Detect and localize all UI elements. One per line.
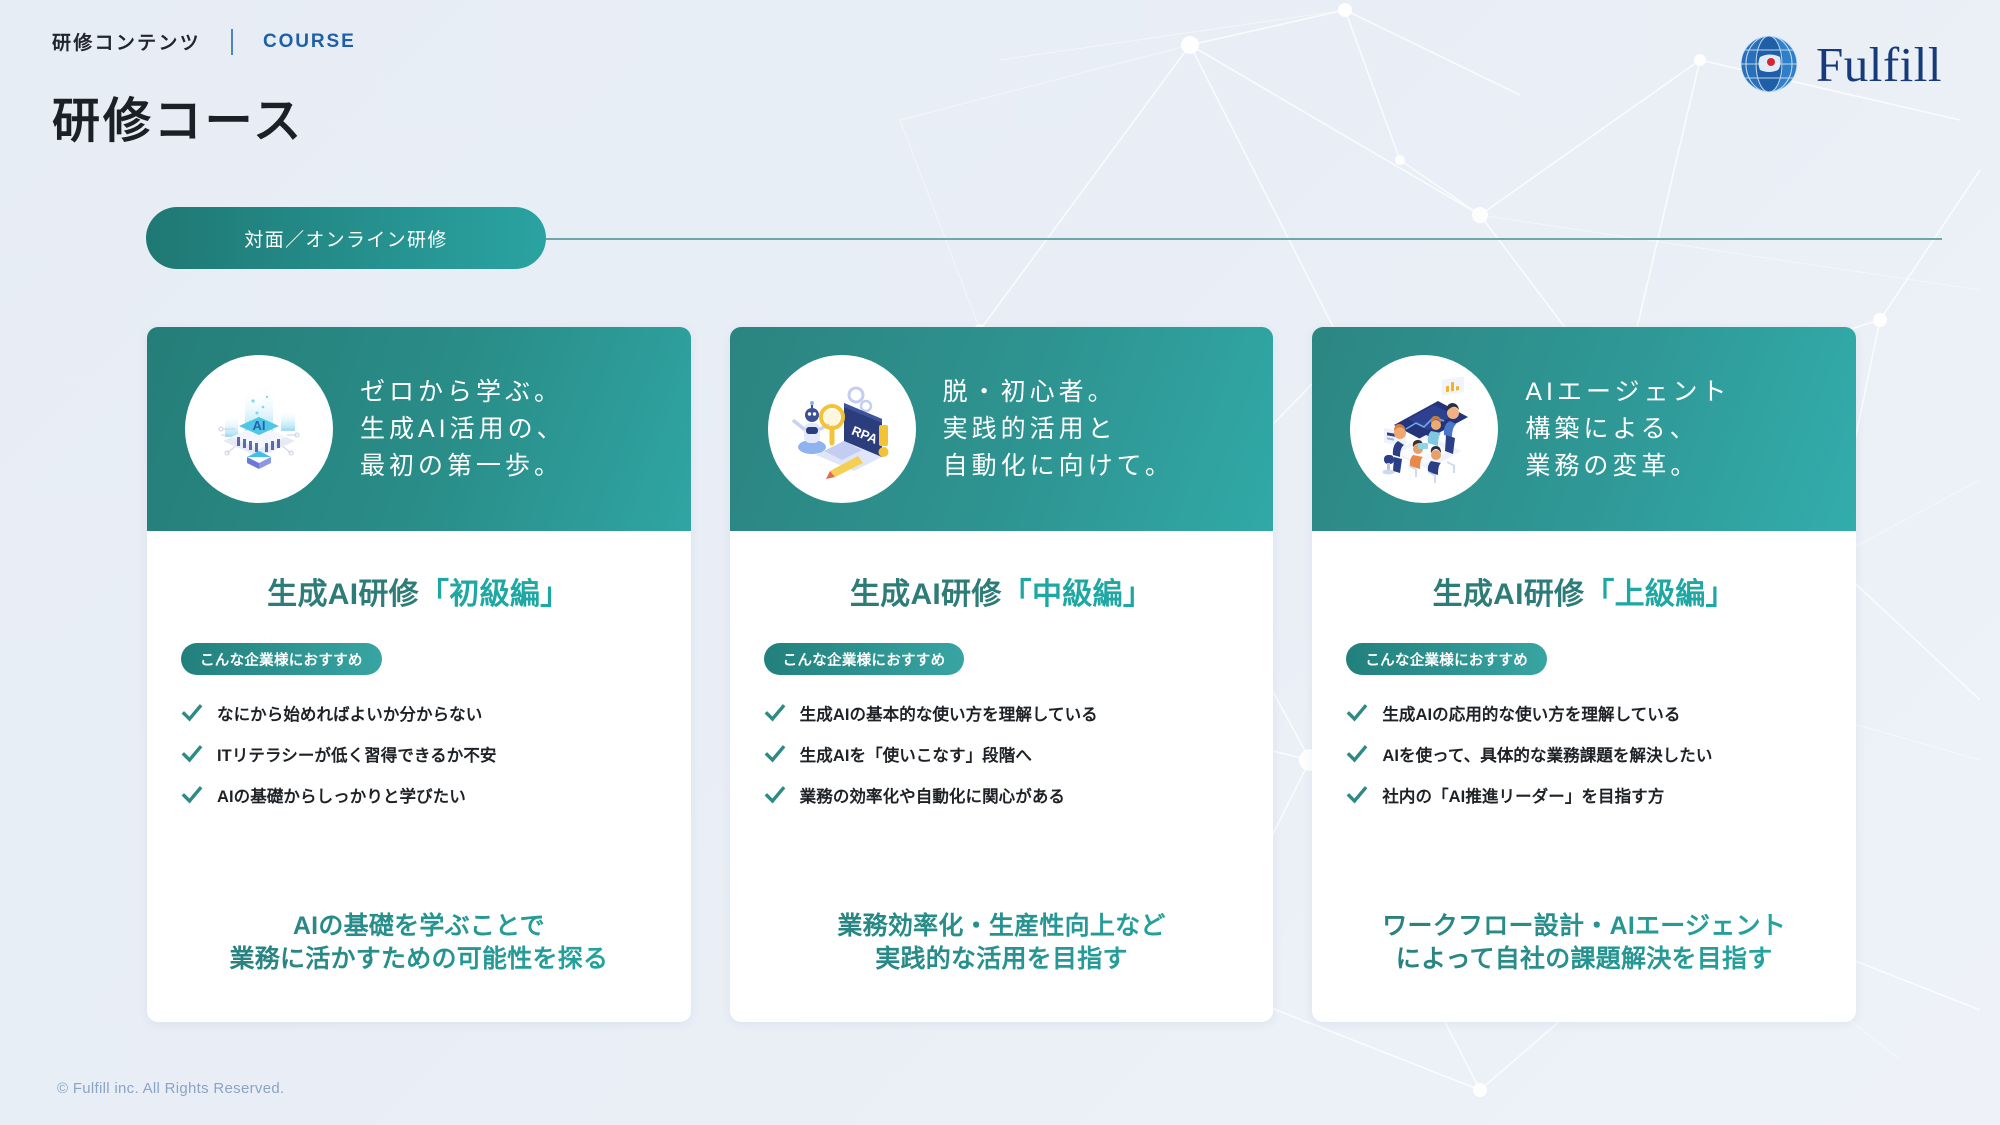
- list-item-label: 業務の効率化や自動化に関心がある: [800, 783, 1065, 807]
- card-headline: 脱・初心者。 実践的活用と 自動化に向けて。: [943, 378, 1174, 480]
- list-item: 社内の「AI推進リーダー」を目指す方: [1346, 783, 1822, 807]
- page-header: 研修コンテンツ COURSE 研修コース: [52, 28, 356, 151]
- check-icon: [1346, 743, 1368, 765]
- rpa-robot-laptop-icon: RPA: [786, 373, 898, 485]
- card-title-accent: 「中級編」: [1002, 578, 1154, 611]
- ai-chip-icon: AI: [203, 373, 315, 485]
- card-headline: ゼロから学ぶ。 生成AI活用の、 最初の第一歩。: [360, 378, 566, 480]
- course-card-advanced[interactable]: AIエージェント 構築による、 業務の変革。 生成AI研修「上級編」 こんな企業…: [1312, 327, 1856, 1022]
- team-dashboard-meeting-icon: [1368, 373, 1480, 485]
- list-item-label: ITリテラシーが低く習得できるか不安: [217, 742, 497, 766]
- summary-line: 実践的な活用を目指す: [764, 943, 1240, 976]
- list-item: なにから始めればよいか分からない: [181, 701, 657, 725]
- tab-onsite-online-training[interactable]: 対面／オンライン研修: [146, 207, 546, 269]
- headline-line: 生成AI活用の、: [360, 415, 566, 443]
- list-item: 業務の効率化や自動化に関心がある: [764, 783, 1240, 807]
- headline-line: 脱・初心者。: [943, 378, 1174, 406]
- card-title-accent: 「初級編」: [419, 578, 571, 611]
- check-icon: [181, 702, 203, 724]
- card-body: 生成AI研修「初級編」 こんな企業様におすすめ なにから始めればよいか分からない…: [147, 531, 691, 1022]
- course-card-intermediate[interactable]: RPA 脱・初心者。: [730, 327, 1274, 1022]
- headline-line: 構築による、: [1525, 415, 1730, 443]
- card-headline: AIエージェント 構築による、 業務の変革。: [1525, 378, 1730, 480]
- eyebrow-english-label: COURSE: [263, 31, 356, 53]
- summary-line: ワークフロー設計・AIエージェント: [1346, 910, 1822, 943]
- headline-line: 自動化に向けて。: [943, 452, 1174, 480]
- tab-label: 対面／オンライン研修: [244, 225, 447, 252]
- card-title-main: 生成AI研修: [267, 578, 419, 611]
- card-body: 生成AI研修「上級編」 こんな企業様におすすめ 生成AIの応用的な使い方を理解し…: [1312, 531, 1856, 1022]
- footer-copyright: © Fulfill inc. All Rights Reserved.: [57, 1080, 284, 1097]
- breadcrumb: 研修コンテンツ COURSE: [52, 28, 356, 55]
- summary-line: によって自社の課題解決を目指す: [1346, 943, 1822, 976]
- list-item-label: AIの基礎からしっかりと学びたい: [217, 783, 466, 807]
- card-title: 生成AI研修「中級編」: [764, 569, 1240, 613]
- brand-logo: Fulfill: [1738, 33, 1942, 95]
- svg-text:AI: AI: [253, 418, 266, 433]
- bullet-list: なにから始めればよいか分からない ITリテラシーが低く習得できるか不安 AIの基…: [181, 701, 657, 807]
- list-item: 生成AIの基本的な使い方を理解している: [764, 701, 1240, 725]
- card-title-main: 生成AI研修: [1433, 578, 1585, 611]
- check-icon: [1346, 702, 1368, 724]
- page-title: 研修コース: [52, 81, 356, 151]
- list-item-label: 生成AIを「使いこなす」段階へ: [800, 742, 1032, 766]
- headline-line: 最初の第一歩。: [360, 452, 566, 480]
- recommendation-badge: こんな企業様におすすめ: [1346, 643, 1547, 675]
- bullet-list: 生成AIの応用的な使い方を理解している AIを使って、具体的な業務課題を解決した…: [1346, 701, 1822, 807]
- headline-line: AIエージェント: [1525, 378, 1730, 406]
- headline-line: 業務の変革。: [1525, 452, 1730, 480]
- headline-line: ゼロから学ぶ。: [360, 378, 566, 406]
- list-item-label: 社内の「AI推進リーダー」を目指す方: [1382, 783, 1664, 807]
- globe-japan-icon: [1738, 33, 1800, 95]
- card-title: 生成AI研修「初級編」: [181, 569, 657, 613]
- recommendation-badge: こんな企業様におすすめ: [181, 643, 382, 675]
- logo-wordmark: Fulfill: [1816, 36, 1942, 93]
- bullet-list: 生成AIの基本的な使い方を理解している 生成AIを「使いこなす」段階へ 業務の効…: [764, 701, 1240, 807]
- badge-label: こんな企業様におすすめ: [1365, 649, 1528, 670]
- breadcrumb-divider: [231, 29, 233, 55]
- card-summary: AIの基礎を学ぶことで 業務に活かすための可能性を探る: [181, 910, 657, 1023]
- check-icon: [764, 784, 786, 806]
- check-icon: [764, 743, 786, 765]
- card-summary: 業務効率化・生産性向上など 実践的な活用を目指す: [764, 910, 1240, 1023]
- badge-label: こんな企業様におすすめ: [783, 649, 946, 670]
- list-item: ITリテラシーが低く習得できるか不安: [181, 742, 657, 766]
- thumbnail-circle: AI: [185, 355, 333, 503]
- card-summary: ワークフロー設計・AIエージェント によって自社の課題解決を目指す: [1346, 910, 1822, 1023]
- list-item: AIを使って、具体的な業務課題を解決したい: [1346, 742, 1822, 766]
- section-tab-row: 対面／オンライン研修: [146, 207, 1942, 269]
- list-item-label: 生成AIの応用的な使い方を理解している: [1382, 701, 1680, 725]
- list-item: AIの基礎からしっかりと学びたい: [181, 783, 657, 807]
- card-header: AIエージェント 構築による、 業務の変革。: [1312, 327, 1856, 531]
- check-icon: [181, 743, 203, 765]
- headline-line: 実践的活用と: [943, 415, 1174, 443]
- section-divider-line: [546, 238, 1942, 240]
- card-body: 生成AI研修「中級編」 こんな企業様におすすめ 生成AIの基本的な使い方を理解し…: [730, 531, 1274, 1022]
- course-card-beginner[interactable]: AI ゼロから学ぶ。 生成AI活用の、 最初の第一歩。 生成AI研修「初級編」 …: [147, 327, 691, 1022]
- badge-label: こんな企業様におすすめ: [200, 649, 363, 670]
- summary-line: AIの基礎を学ぶことで: [181, 910, 657, 943]
- list-item: 生成AIの応用的な使い方を理解している: [1346, 701, 1822, 725]
- list-item-label: 生成AIの基本的な使い方を理解している: [800, 701, 1098, 725]
- list-item-label: AIを使って、具体的な業務課題を解決したい: [1382, 742, 1712, 766]
- summary-line: 業務に活かすための可能性を探る: [181, 943, 657, 976]
- card-title-accent: 「上級編」: [1584, 578, 1736, 611]
- list-item: 生成AIを「使いこなす」段階へ: [764, 742, 1240, 766]
- list-item-label: なにから始めればよいか分からない: [217, 701, 482, 725]
- check-icon: [1346, 784, 1368, 806]
- thumbnail-circle: [1350, 355, 1498, 503]
- card-title-main: 生成AI研修: [850, 578, 1002, 611]
- check-icon: [181, 784, 203, 806]
- summary-line: 業務効率化・生産性向上など: [764, 910, 1240, 943]
- card-header: RPA 脱・初心者。: [730, 327, 1274, 531]
- eyebrow-japanese-label: 研修コンテンツ: [52, 28, 201, 55]
- card-title: 生成AI研修「上級編」: [1346, 569, 1822, 613]
- card-header: AI ゼロから学ぶ。 生成AI活用の、 最初の第一歩。: [147, 327, 691, 531]
- check-icon: [764, 702, 786, 724]
- course-card-list: AI ゼロから学ぶ。 生成AI活用の、 最初の第一歩。 生成AI研修「初級編」 …: [147, 327, 1856, 1022]
- recommendation-badge: こんな企業様におすすめ: [764, 643, 965, 675]
- thumbnail-circle: RPA: [768, 355, 916, 503]
